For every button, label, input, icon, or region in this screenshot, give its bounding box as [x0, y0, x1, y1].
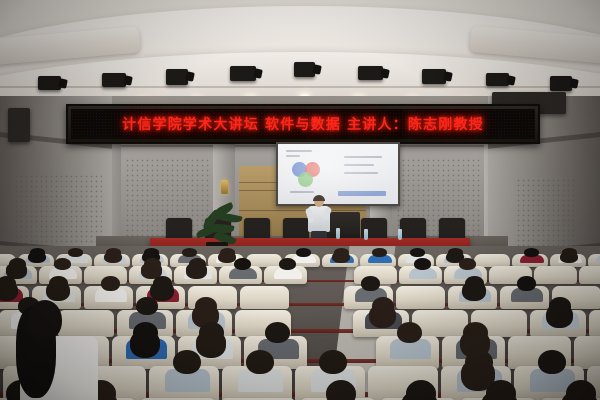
person-head — [30, 248, 44, 257]
lecture-hall-photo: 计信学院学术大讲坛 软件与数据 主讲人：陈志刚教授 — [0, 0, 600, 400]
person-head — [49, 276, 69, 291]
person-head — [279, 258, 296, 270]
audience-person — [309, 380, 385, 400]
person-head — [538, 350, 566, 374]
person-head — [144, 258, 161, 270]
person-head — [136, 297, 158, 315]
water-bottle-2 — [364, 229, 368, 240]
person-head — [410, 248, 424, 257]
stage-chair — [244, 218, 270, 240]
person-head — [414, 258, 431, 270]
person-head — [517, 276, 537, 291]
person-head — [334, 248, 348, 257]
person-head — [372, 248, 386, 257]
audience-area — [0, 246, 600, 400]
foreground-student-head — [28, 300, 62, 340]
audience-person — [469, 380, 545, 400]
person-head — [406, 380, 436, 400]
person-head — [296, 248, 310, 257]
person-head — [9, 258, 26, 270]
person-head — [182, 248, 196, 257]
person-head — [448, 248, 462, 257]
person-head — [397, 322, 422, 343]
stage-chair — [439, 218, 465, 240]
stage-chair — [400, 218, 426, 240]
person-head — [326, 380, 356, 400]
person-head — [234, 258, 251, 270]
water-bottle-3 — [398, 229, 402, 240]
person-head — [463, 322, 488, 343]
person-head — [246, 350, 274, 374]
person-head — [319, 350, 347, 374]
speaker-hair — [313, 195, 325, 201]
person-head — [465, 350, 493, 374]
person-head — [144, 248, 158, 257]
person-head — [153, 276, 173, 291]
person-head — [486, 380, 516, 400]
audience-person — [549, 380, 600, 400]
person-head — [562, 248, 576, 257]
person-head — [459, 258, 476, 270]
person-head — [372, 297, 394, 315]
water-bottle-1 — [336, 228, 340, 239]
person-head — [101, 276, 121, 291]
person-head — [68, 248, 82, 257]
person-head — [265, 322, 290, 343]
person-head — [524, 248, 538, 257]
person-head — [189, 258, 206, 270]
person-head — [361, 276, 381, 291]
person-head — [173, 350, 201, 374]
stage-chair — [166, 218, 192, 240]
person-head — [566, 380, 596, 400]
person-head — [199, 322, 224, 343]
person-head — [220, 248, 234, 257]
person-head — [0, 276, 16, 291]
person-head — [195, 297, 217, 315]
person-head — [133, 322, 158, 343]
audience-person — [389, 380, 465, 400]
person-head — [549, 297, 571, 315]
person-head — [465, 276, 485, 291]
foreground-student — [14, 300, 106, 400]
person-head — [54, 258, 71, 270]
person-head — [106, 248, 120, 257]
